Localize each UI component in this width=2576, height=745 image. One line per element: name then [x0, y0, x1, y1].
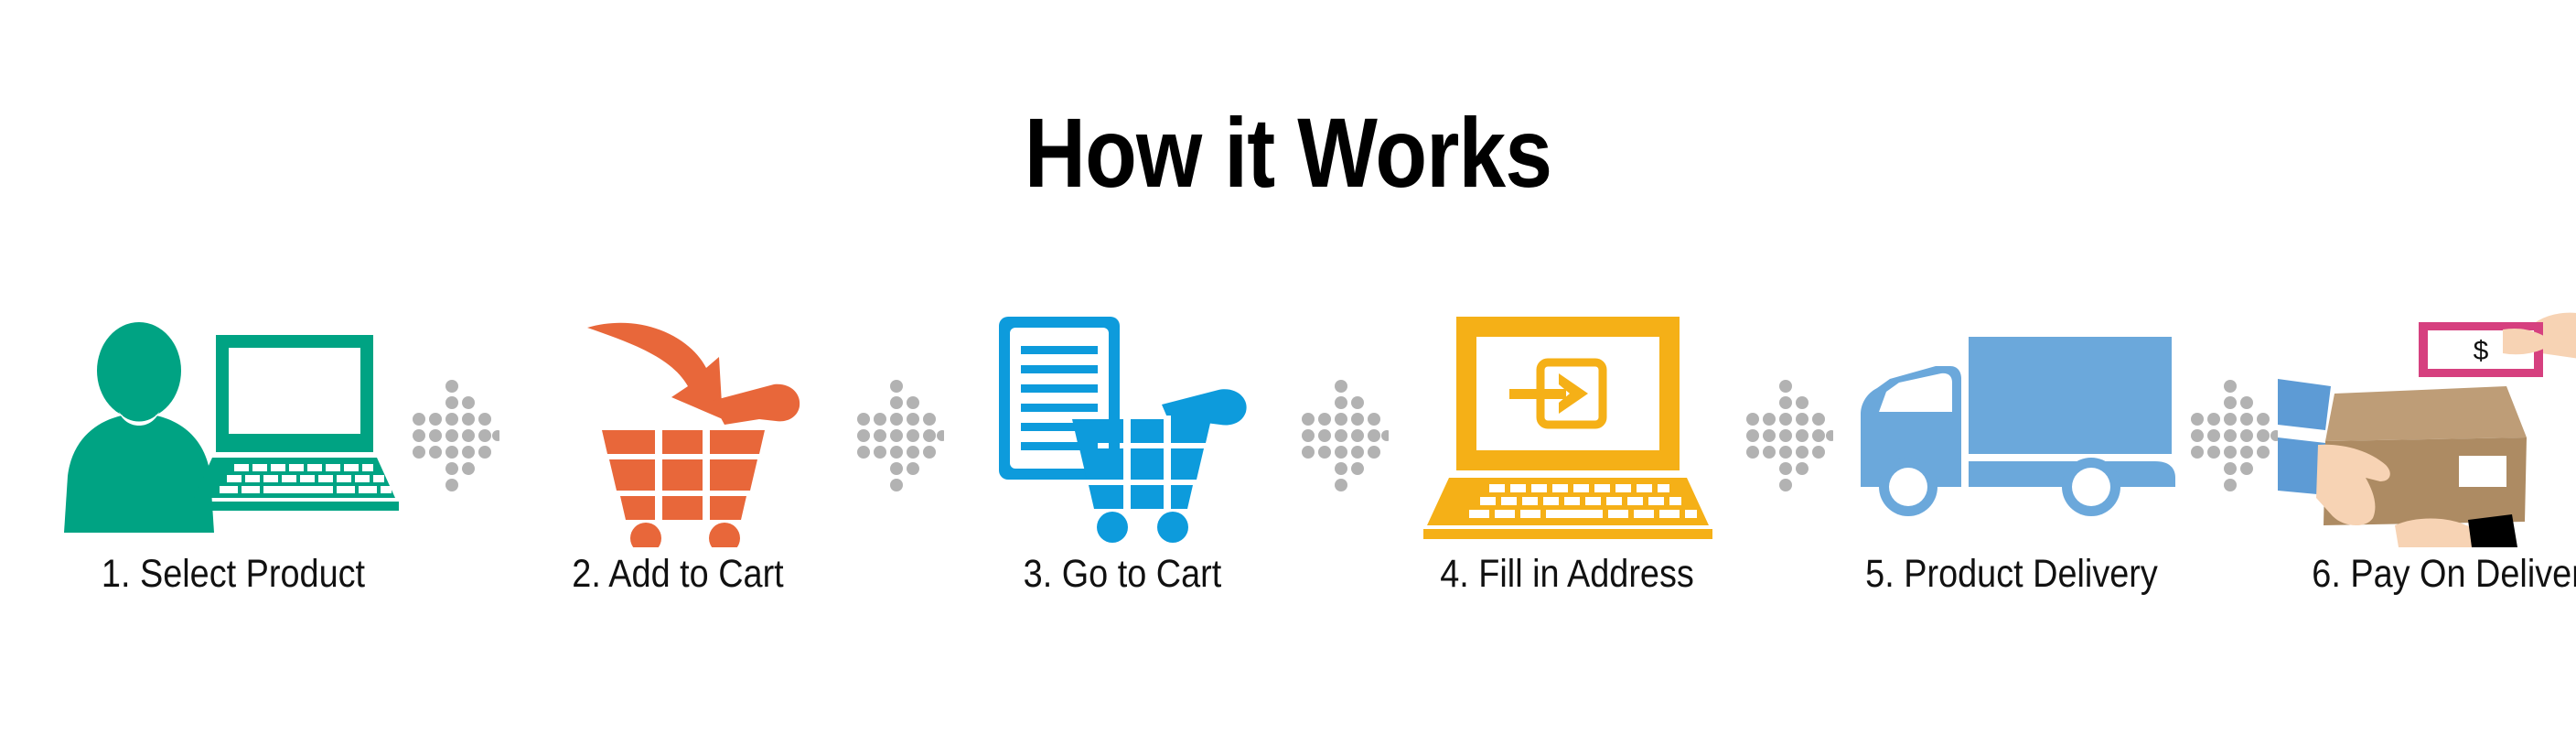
cart-with-curved-arrow-icon — [499, 302, 856, 547]
step-3-go-to-cart[interactable]: 3. Go to Cart — [944, 302, 1301, 613]
dotted-arrow-icon — [2190, 302, 2278, 547]
how-it-works-infographic: How it Works — [0, 0, 2576, 745]
svg-text:$: $ — [2474, 336, 2489, 366]
step-6-pay-on-delivery[interactable]: $ — [2278, 302, 2576, 613]
step-6-label: 6. Pay On Delivery — [2299, 551, 2576, 597]
hands-exchanging-box-and-money-icon: $ — [2278, 302, 2576, 547]
step-2-add-to-cart[interactable]: 2. Add to Cart — [499, 302, 856, 613]
dotted-arrow-icon — [1301, 302, 1389, 547]
step-4-label: 4. Fill in Address — [1410, 551, 1723, 597]
step-1-select-product[interactable]: 1. Select Product — [55, 302, 412, 613]
document-with-cart-icon — [944, 302, 1301, 547]
step-1-label: 1. Select Product — [76, 551, 390, 597]
step-4-fill-in-address[interactable]: 4. Fill in Address — [1389, 302, 1745, 613]
step-3-label: 3. Go to Cart — [965, 551, 1279, 597]
laptop-with-login-arrow-icon — [1389, 302, 1745, 547]
steps-strip: 1. Select Product — [55, 302, 2525, 613]
dotted-arrow-icon — [1745, 302, 1833, 547]
person-with-laptop-icon — [55, 302, 412, 547]
step-2-label: 2. Add to Cart — [521, 551, 834, 597]
dotted-arrow-icon — [412, 302, 499, 547]
step-5-product-delivery[interactable]: 5. Product Delivery — [1833, 302, 2190, 613]
page-title: How it Works — [180, 99, 2396, 207]
dotted-arrow-icon — [856, 302, 944, 547]
step-5-label: 5. Product Delivery — [1854, 551, 2168, 597]
delivery-truck-icon — [1833, 302, 2190, 547]
